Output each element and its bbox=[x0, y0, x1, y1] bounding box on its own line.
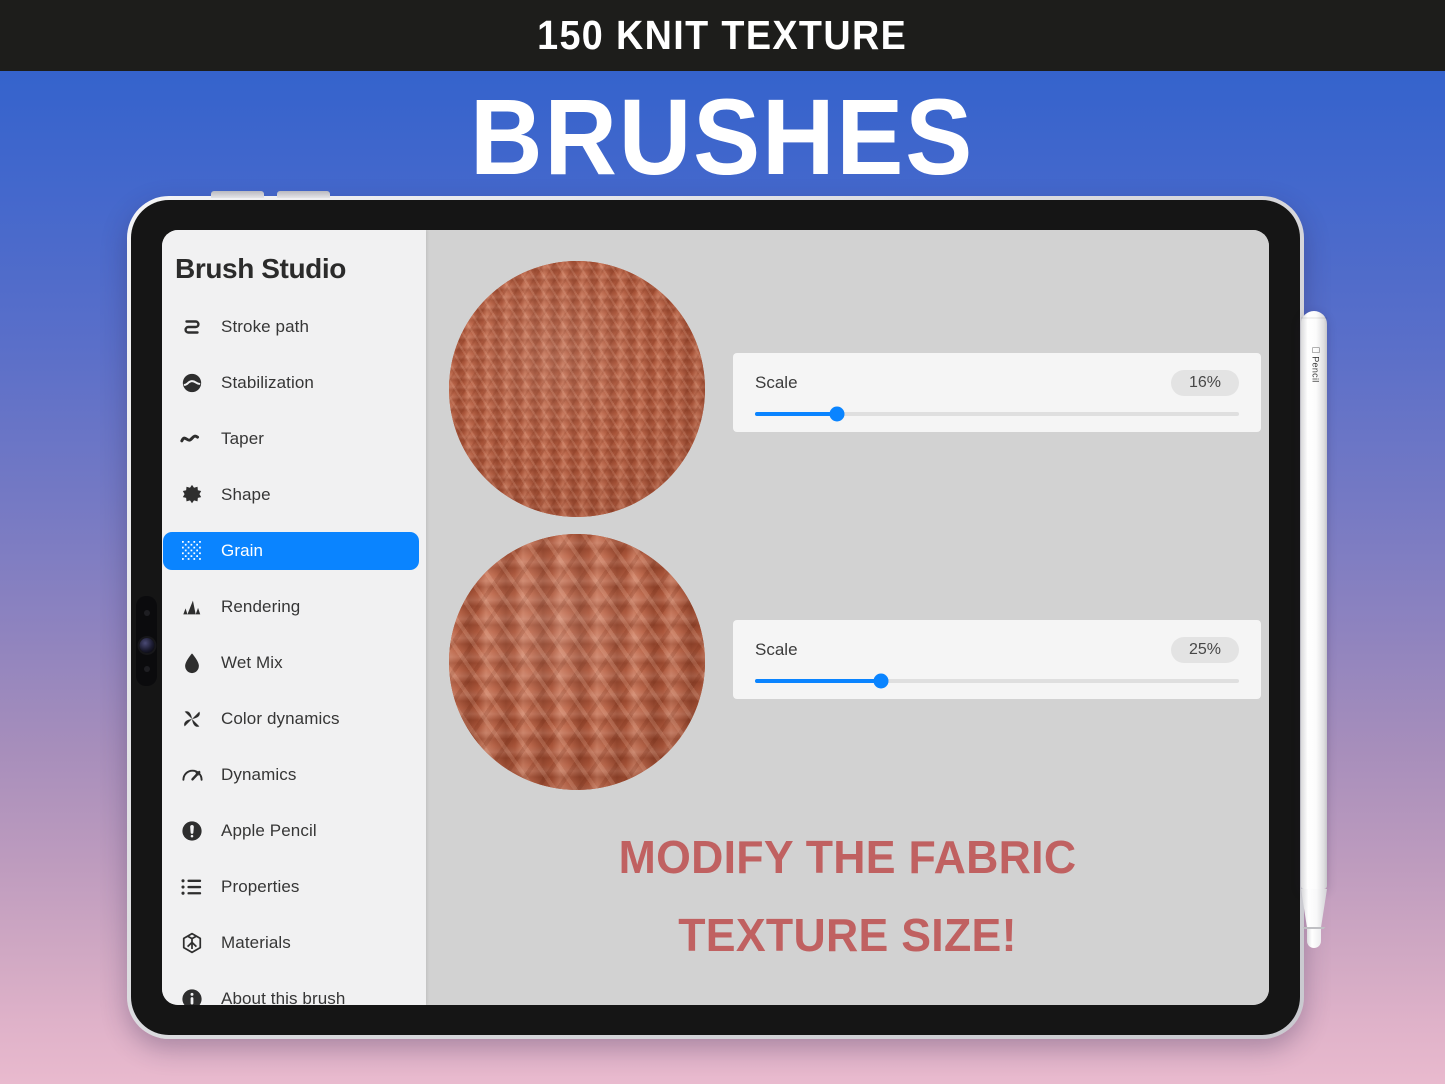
shape-icon bbox=[177, 484, 207, 506]
sidebar-item-wet-mix[interactable]: Wet Mix bbox=[163, 644, 419, 682]
apple-pencil-icon bbox=[177, 820, 207, 842]
pencil-brand-label: Pencil bbox=[1310, 327, 1321, 403]
scale-slider-thumb[interactable] bbox=[873, 674, 888, 689]
banner-title: 150 KNIT TEXTURE bbox=[537, 15, 907, 56]
volume-up-button[interactable] bbox=[211, 191, 264, 198]
properties-icon bbox=[177, 878, 207, 896]
pencil-tip bbox=[1301, 889, 1327, 948]
camera-module bbox=[136, 596, 157, 686]
sidebar-item-label: Color dynamics bbox=[221, 709, 340, 729]
caption-line-1: MODIFY THE FABRIC bbox=[439, 818, 1257, 896]
sidebar-item-label: About this brush bbox=[221, 989, 345, 1005]
sidebar-item-label: Apple Pencil bbox=[221, 821, 317, 841]
scale-slider-card-2: Scale 25% bbox=[733, 620, 1261, 699]
scale-slider-track[interactable] bbox=[755, 412, 1239, 416]
rendering-icon bbox=[177, 597, 207, 617]
sidebar-item-taper[interactable]: Taper bbox=[163, 420, 419, 458]
pencil-body: Pencil bbox=[1301, 311, 1327, 889]
scale-slider-fill bbox=[755, 679, 881, 683]
sidebar-item-stroke-path[interactable]: Stroke path bbox=[163, 308, 419, 346]
sidebar-item-label: Stabilization bbox=[221, 373, 314, 393]
texture-shading bbox=[449, 534, 705, 790]
sidebar-item-stabilization[interactable]: Stabilization bbox=[163, 364, 419, 402]
info-icon bbox=[177, 988, 207, 1005]
apple-pencil: Pencil bbox=[1301, 311, 1327, 948]
slider-header: Scale 16% bbox=[755, 370, 1239, 396]
sidebar-item-color-dynamics[interactable]: Color dynamics bbox=[163, 700, 419, 738]
scale-slider-card-1: Scale 16% bbox=[733, 353, 1261, 432]
scale-label: Scale bbox=[755, 373, 798, 393]
sidebar-item-dynamics[interactable]: Dynamics bbox=[163, 756, 419, 794]
sidebar-item-materials[interactable]: Materials bbox=[163, 924, 419, 962]
sidebar-item-rendering[interactable]: Rendering bbox=[163, 588, 419, 626]
caption-line-2: TEXTURE SIZE! bbox=[439, 896, 1257, 974]
pencil-cone bbox=[1301, 889, 1327, 929]
stroke-path-icon bbox=[177, 316, 207, 338]
grain-icon bbox=[177, 541, 207, 561]
sidebar-item-label: Taper bbox=[221, 429, 264, 449]
knit-texture-preview-fine[interactable] bbox=[449, 261, 705, 517]
sidebar-item-label: Dynamics bbox=[221, 765, 296, 785]
dynamics-icon bbox=[177, 765, 207, 785]
pencil-flat-edge bbox=[1301, 317, 1327, 319]
stabilization-icon bbox=[177, 372, 207, 394]
scale-slider-fill bbox=[755, 412, 837, 416]
scale-label: Scale bbox=[755, 640, 798, 660]
sidebar-menu: Stroke pathStabilizationTaperShapeGrainR… bbox=[162, 308, 426, 1005]
camera-lens-icon bbox=[139, 638, 154, 653]
sidebar-item-about-this-brush[interactable]: About this brush bbox=[163, 980, 419, 1005]
brush-studio-sidebar: Brush Studio Stroke pathStabilizationTap… bbox=[162, 230, 426, 1005]
sensor-dot-top bbox=[144, 610, 150, 616]
sidebar-item-properties[interactable]: Properties bbox=[163, 868, 419, 906]
knit-texture-preview-coarse[interactable] bbox=[449, 534, 705, 790]
slider-header: Scale 25% bbox=[755, 637, 1239, 663]
promo-caption: MODIFY THE FABRIC TEXTURE SIZE! bbox=[439, 818, 1257, 974]
knit-texture-coarse bbox=[449, 534, 705, 790]
scale-slider-track[interactable] bbox=[755, 679, 1239, 683]
headline-title: BRUSHES bbox=[470, 83, 974, 191]
scale-slider-thumb[interactable] bbox=[830, 407, 845, 422]
sidebar-item-label: Wet Mix bbox=[221, 653, 283, 673]
sidebar-item-label: Rendering bbox=[221, 597, 300, 617]
knit-texture-fine bbox=[449, 261, 705, 517]
sidebar-item-label: Stroke path bbox=[221, 317, 309, 337]
sidebar-item-shape[interactable]: Shape bbox=[163, 476, 419, 514]
volume-down-button[interactable] bbox=[277, 191, 330, 198]
grain-settings-panel: Scale 16% Scale 25% MODIF bbox=[426, 230, 1269, 1005]
tablet-device: Brush Studio Stroke pathStabilizationTap… bbox=[127, 196, 1304, 1039]
page-title: Brush Studio bbox=[162, 230, 426, 285]
pencil-brand-text: Pencil bbox=[1311, 356, 1321, 382]
texture-shading bbox=[449, 261, 705, 517]
wet-mix-icon bbox=[177, 652, 207, 674]
tablet-screen: Brush Studio Stroke pathStabilizationTap… bbox=[162, 230, 1269, 1005]
materials-icon bbox=[177, 932, 207, 954]
pencil-nib bbox=[1307, 929, 1321, 948]
sidebar-item-label: Properties bbox=[221, 877, 299, 897]
sidebar-item-label: Materials bbox=[221, 933, 291, 953]
scale-value-badge: 16% bbox=[1171, 370, 1239, 396]
scale-value-badge: 25% bbox=[1171, 637, 1239, 663]
sensor-dot-bottom bbox=[144, 666, 150, 672]
sidebar-item-apple-pencil[interactable]: Apple Pencil bbox=[163, 812, 419, 850]
headline: BRUSHES bbox=[0, 74, 1445, 199]
sidebar-item-label: Grain bbox=[221, 541, 263, 561]
sidebar-item-grain[interactable]: Grain bbox=[163, 532, 419, 570]
top-banner: 150 KNIT TEXTURE bbox=[0, 0, 1445, 71]
taper-icon bbox=[177, 428, 207, 450]
sidebar-item-label: Shape bbox=[221, 485, 271, 505]
color-dynamics-icon bbox=[177, 708, 207, 730]
apple-logo-icon:  bbox=[1310, 346, 1321, 354]
